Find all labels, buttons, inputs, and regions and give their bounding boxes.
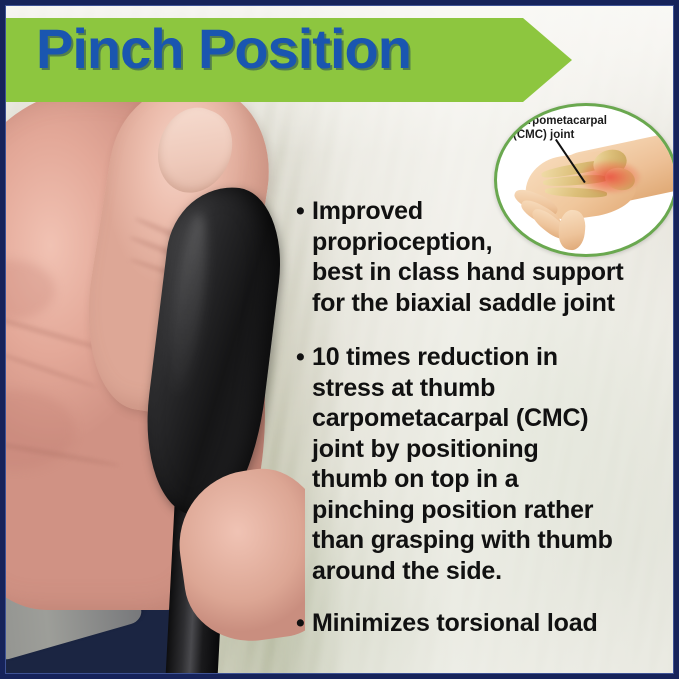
bullet-marker-icon: • [296,608,312,639]
list-item-text: 10 times reduction in stress at thumb ca… [312,342,674,586]
infographic-poster: Pinch Position Carpometacarpal (CMC) joi… [0,0,679,679]
list-item-text: Improved proprioception, best in class h… [312,196,674,318]
grip-highlight [164,212,214,394]
benefits-list: • Improved proprioception, best in class… [296,196,674,659]
list-item: • 10 times reduction in stress at thumb … [296,342,674,586]
page-title: Pinch Position [36,21,411,77]
hand-grip-photo [5,90,305,674]
bullet-marker-icon: • [296,342,312,373]
list-item: • Improved proprioception, best in class… [296,196,674,318]
list-item: • Minimizes torsional load [296,608,674,639]
list-item-text: Minimizes torsional load [312,608,674,639]
cmc-joint-label: Carpometacarpal (CMC) joint [513,114,607,143]
knuckle-shadow [5,260,55,320]
palm-crease [5,347,98,390]
inflammation-highlight [579,160,641,194]
bullet-marker-icon: • [296,196,312,227]
